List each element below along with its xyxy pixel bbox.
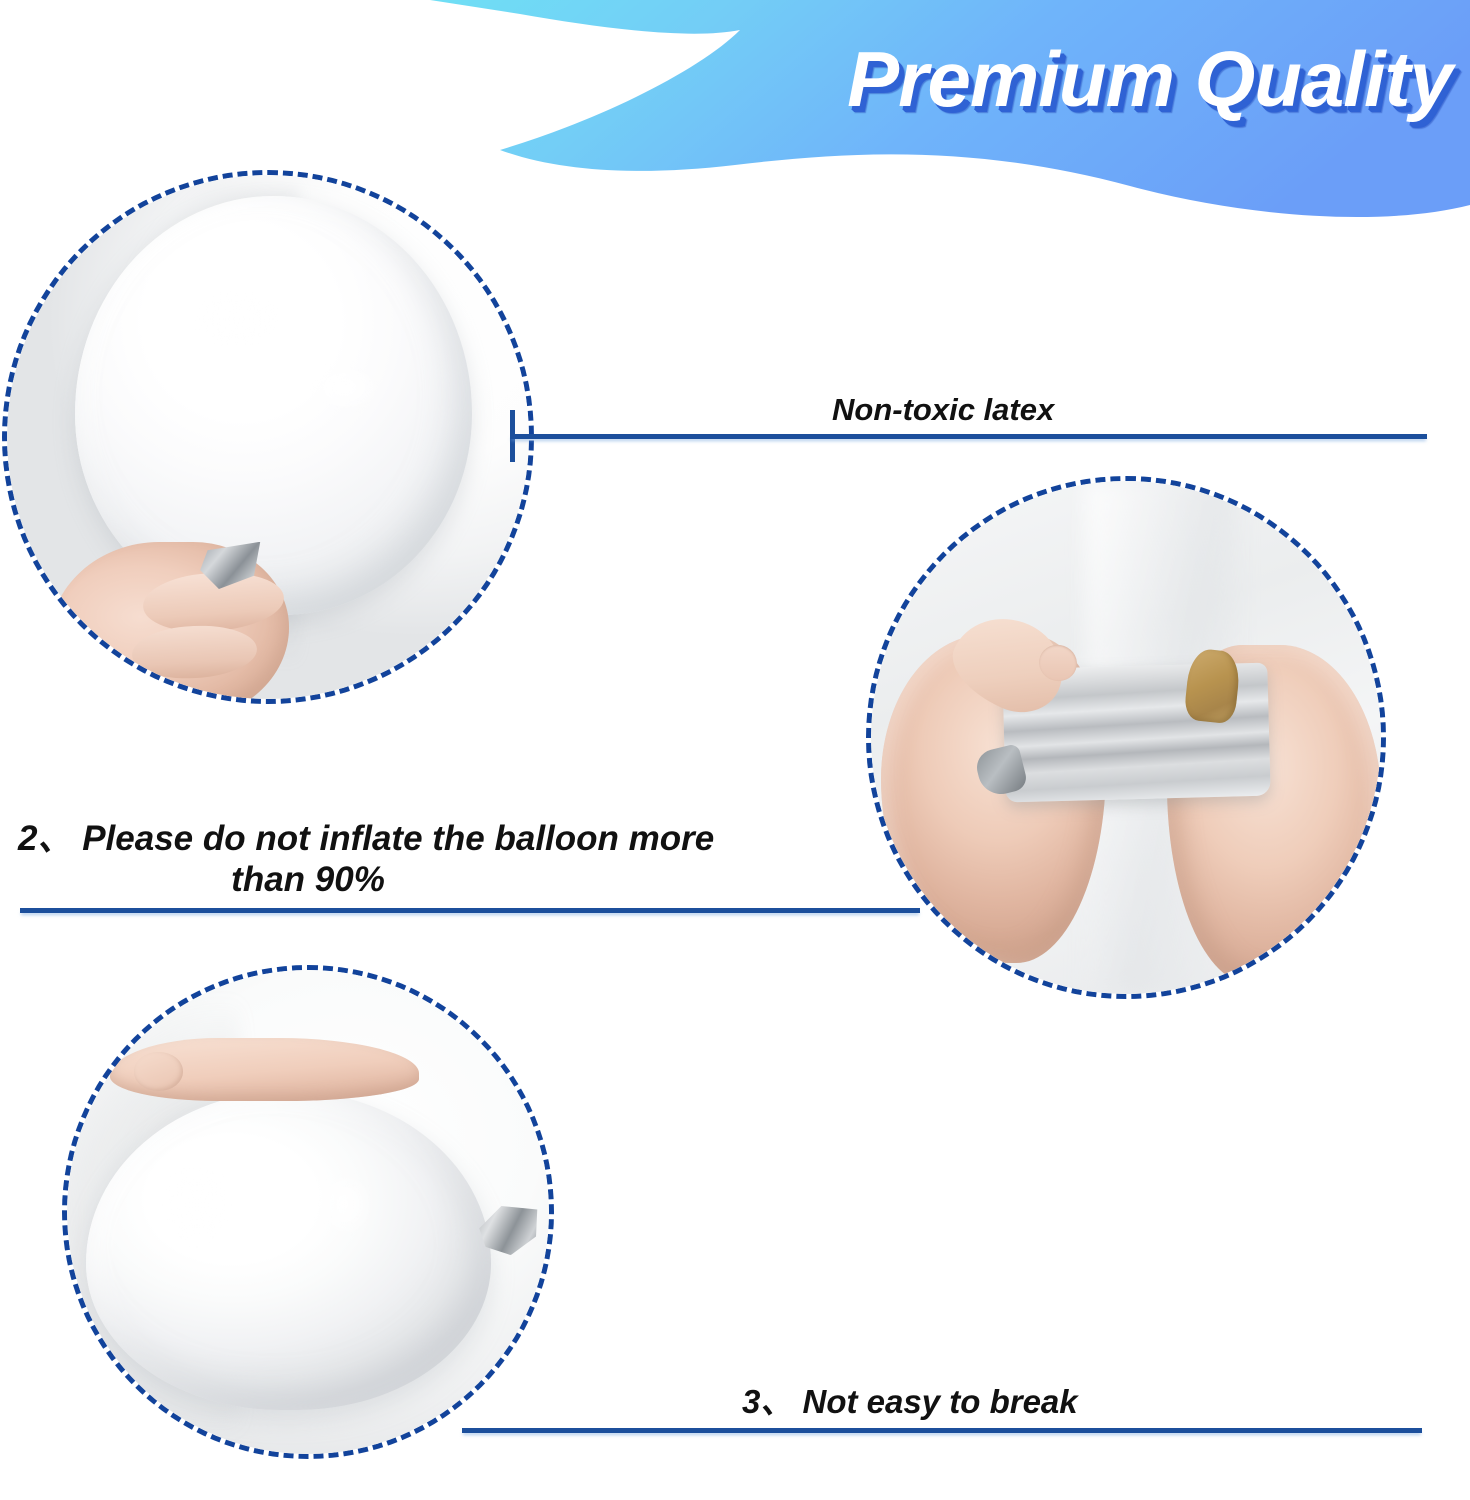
- feature-2-photo-circle: [866, 476, 1386, 999]
- balloon-highlight: [195, 290, 279, 348]
- feature-3-photo-circle: [62, 965, 554, 1459]
- feature-2-photo: [871, 481, 1381, 994]
- feature-1-caption: Non-toxic latex: [832, 392, 1054, 429]
- balloon-highlight-secondary: [310, 364, 378, 411]
- feature-2-caption-line-1: 2、 Please do not inflate the balloon mor…: [18, 818, 898, 859]
- balloon-highlight-secondary: [318, 1173, 371, 1236]
- page-title: Premium Quality: [847, 34, 1452, 125]
- feature-2-caption-line-2: than 90%: [18, 859, 898, 900]
- feature-1-photo-circle: [2, 170, 534, 704]
- balloon-highlight: [163, 1164, 230, 1246]
- feature-3-connector-line: [462, 1428, 1422, 1433]
- feature-3-photo: [67, 970, 549, 1454]
- feature-2-caption: 2、 Please do not inflate the balloon mor…: [18, 818, 898, 901]
- feature-1-photo: [7, 175, 529, 699]
- feature-2-connector-line: [20, 908, 920, 913]
- product-infographic: Premium Quality Non-toxic latex: [0, 0, 1470, 1500]
- knuckle: [134, 1052, 182, 1091]
- feature-1-connector-line: [510, 434, 1427, 439]
- feature-3-caption: 3、 Not easy to break: [742, 1383, 1078, 1422]
